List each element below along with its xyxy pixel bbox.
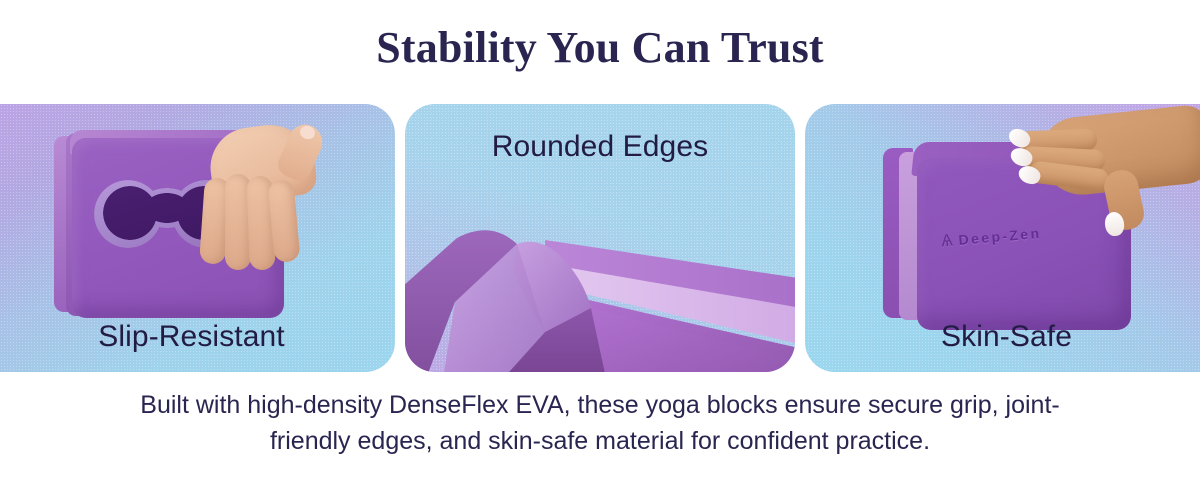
feature-panel-rounded-edges[interactable]: Rounded Edges bbox=[405, 104, 795, 372]
block-corner-macro-image bbox=[405, 182, 795, 372]
page-title: Stability You Can Trust bbox=[0, 24, 1200, 72]
feature-panels: Slip-Resistant bbox=[0, 104, 1200, 372]
panel-label-skin-safe: Skin-Safe bbox=[805, 320, 1200, 354]
lotus-monogram-icon: Ѧ bbox=[941, 232, 954, 250]
hand-resting-on-block bbox=[1001, 108, 1200, 258]
feature-caption: Built with high-density DenseFlex EVA, t… bbox=[100, 388, 1100, 459]
rounded-corner-illustration bbox=[405, 182, 795, 372]
feature-panel-skin-safe[interactable]: Ѧ Deep-Zen Skin-Safe bbox=[805, 104, 1200, 372]
product-feature-banner: Stability You Can Trust bbox=[0, 0, 1200, 492]
panel-label-rounded-edges: Rounded Edges bbox=[405, 130, 795, 164]
feature-panel-slip-resistant[interactable]: Slip-Resistant bbox=[0, 104, 395, 372]
yoga-block-image-skin-safe: Ѧ Deep-Zen bbox=[883, 142, 1143, 332]
yoga-block-image-slip-resistant bbox=[54, 130, 294, 325]
hand-gripping-block bbox=[192, 130, 322, 298]
panel-label-slip-resistant: Slip-Resistant bbox=[0, 320, 395, 354]
